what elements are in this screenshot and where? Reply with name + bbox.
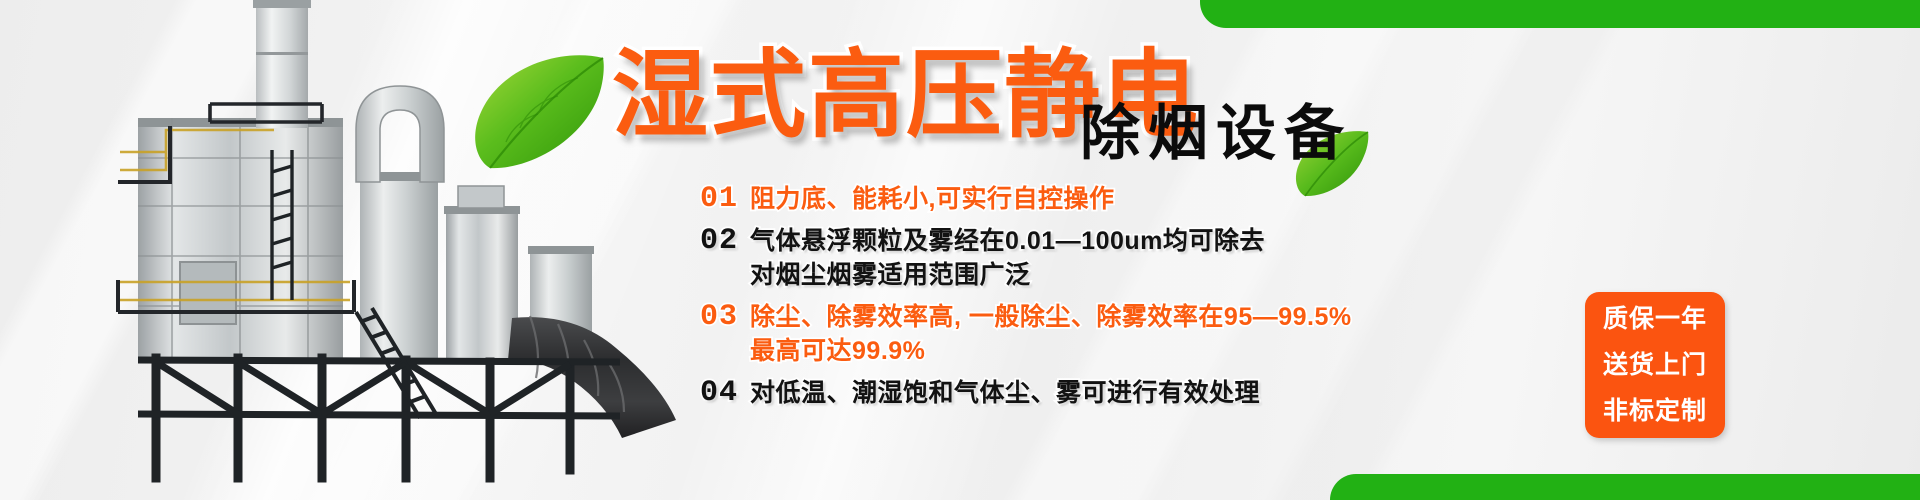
feature-text: 气体悬浮颗粒及雾经在0.01—100um均可除去 对烟尘烟雾适用范围广泛 xyxy=(750,224,1265,292)
feature-text: 阻力底、能耗小,可实行自控操作 xyxy=(750,182,1114,216)
feature-number: 01 xyxy=(700,182,738,216)
feature-line-1: 对低温、潮湿饱和气体尘、雾可进行有效处理 xyxy=(750,379,1260,407)
feature-line-1: 气体悬浮颗粒及雾经在0.01—100um均可除去 xyxy=(750,227,1265,255)
feature-line-1: 阻力底、能耗小,可实行自控操作 xyxy=(750,185,1114,213)
guarantee-badge: 质保一年 送货上门 非标定制 xyxy=(1585,292,1725,438)
feature-line-1: 除尘、除雾效率高, 一般除尘、除雾效率在95—99.5% xyxy=(750,303,1352,331)
page-subtitle: 除烟设备 xyxy=(1080,104,1352,164)
leaf-icon xyxy=(470,52,610,172)
feature-text: 除尘、除雾效率高, 一般除尘、除雾效率在95—99.5% 最高可达99.9% xyxy=(750,300,1352,368)
feature-line-2: 对烟尘烟雾适用范围广泛 xyxy=(750,258,1265,292)
feature-item-03: 03 除尘、除雾效率高, 一般除尘、除雾效率在95—99.5% 最高可达99.9… xyxy=(700,300,1600,368)
feature-item-02: 02 气体悬浮颗粒及雾经在0.01—100um均可除去 对烟尘烟雾适用范围广泛 xyxy=(700,224,1600,292)
feature-line-2: 最高可达99.9% xyxy=(750,334,1352,368)
badge-line-1: 质保一年 xyxy=(1603,296,1707,342)
feature-number: 02 xyxy=(700,224,738,258)
green-ribbon-top xyxy=(1200,0,1920,28)
green-ribbon-bottom xyxy=(1330,474,1920,500)
feature-item-04: 04 对低温、潮湿饱和气体尘、雾可进行有效处理 xyxy=(700,376,1600,410)
feature-text: 对低温、潮湿饱和气体尘、雾可进行有效处理 xyxy=(750,376,1260,410)
promo-banner: 湿式高压静电 除烟设备 01 阻力底、能耗小,可实行自控操作 02 气体悬浮颗粒… xyxy=(0,0,1920,500)
badge-line-3: 非标定制 xyxy=(1603,388,1707,434)
feature-item-01: 01 阻力底、能耗小,可实行自控操作 xyxy=(700,182,1600,216)
feature-number: 03 xyxy=(700,300,738,334)
feature-number: 04 xyxy=(700,376,738,410)
badge-line-2: 送货上门 xyxy=(1603,342,1707,388)
feature-list: 01 阻力底、能耗小,可实行自控操作 02 气体悬浮颗粒及雾经在0.01—100… xyxy=(700,182,1600,414)
